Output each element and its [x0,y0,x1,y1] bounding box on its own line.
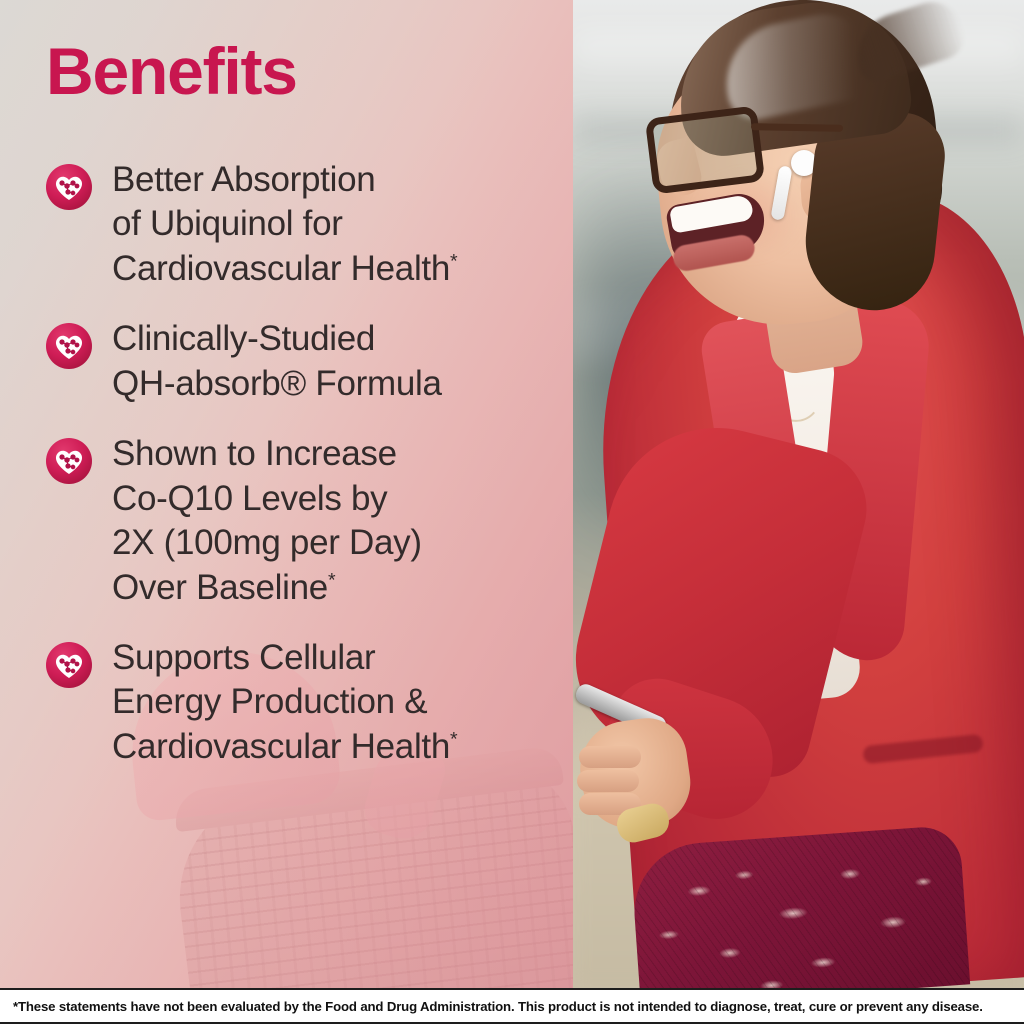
benefit-text: Clinically-Studied QH-absorb® Formula [112,317,442,406]
list-item: Supports Cellular Energy Production & Ca… [46,636,556,769]
panel-content: Benefits [0,0,573,988]
list-item: Better Absorption of Ubiquinol for Cardi… [46,158,556,291]
finger [579,746,641,768]
finger [577,770,639,792]
heart-molecule-icon [46,642,92,688]
benefit-text: Better Absorption of Ubiquinol for Cardi… [112,158,457,291]
heart-molecule-icon [46,323,92,369]
footnote-marker: * [328,569,335,591]
floral-skirt [630,825,970,988]
list-item: Shown to Increase Co-Q10 Levels by 2X (1… [46,432,556,610]
heart-molecule-icon [46,438,92,484]
eyeglasses-lens [645,105,765,194]
heart-molecule-icon [46,164,92,210]
footnote-marker: * [450,250,457,272]
footnote-marker: * [450,728,457,750]
benefit-text: Supports Cellular Energy Production & Ca… [112,636,457,769]
disclaimer-text: *These statements have not been evaluate… [0,999,983,1014]
list-item: Clinically-Studied QH-absorb® Formula [46,317,556,406]
page-title: Benefits [46,38,297,104]
benefit-text: Shown to Increase Co-Q10 Levels by 2X (1… [112,432,422,610]
lifestyle-photo [573,0,1024,988]
fda-disclaimer-bar: *These statements have not been evaluate… [0,988,1024,1024]
floral-print-detail [630,825,970,988]
benefits-list: Better Absorption of Ubiquinol for Cardi… [46,158,556,795]
benefits-infographic: Benefits [0,0,1024,1024]
